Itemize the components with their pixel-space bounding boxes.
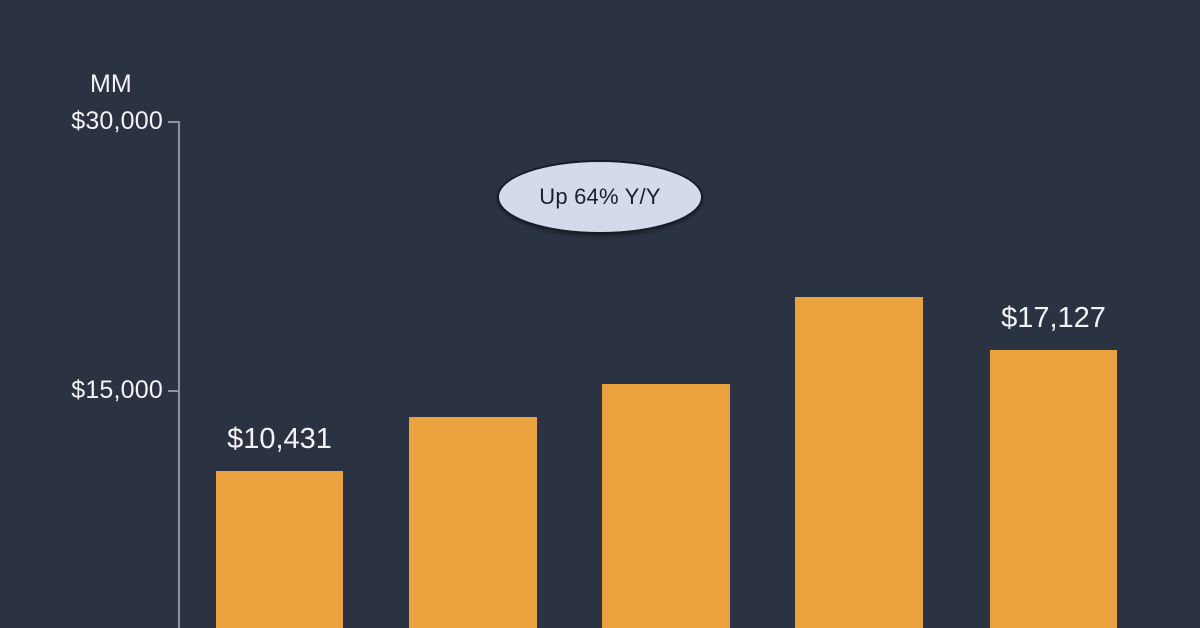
- bar-4[interactable]: [795, 297, 923, 628]
- bar-2[interactable]: [409, 417, 537, 628]
- bar-value-label-1: $10,431: [227, 423, 332, 456]
- bar-1[interactable]: [216, 471, 343, 628]
- bar-chart: MM $30,000 $15,000 $10,431$17,127 Up 64%…: [0, 0, 1200, 628]
- callout-bubble-up-64-yoy: Up 64% Y/Y: [497, 160, 703, 234]
- bar-value-label-5: $17,127: [1001, 302, 1106, 335]
- bar-3[interactable]: [602, 384, 730, 628]
- plot-area: $10,431$17,127: [0, 0, 1200, 628]
- bar-5[interactable]: [990, 350, 1117, 628]
- callout-bubble-text: Up 64% Y/Y: [539, 184, 660, 210]
